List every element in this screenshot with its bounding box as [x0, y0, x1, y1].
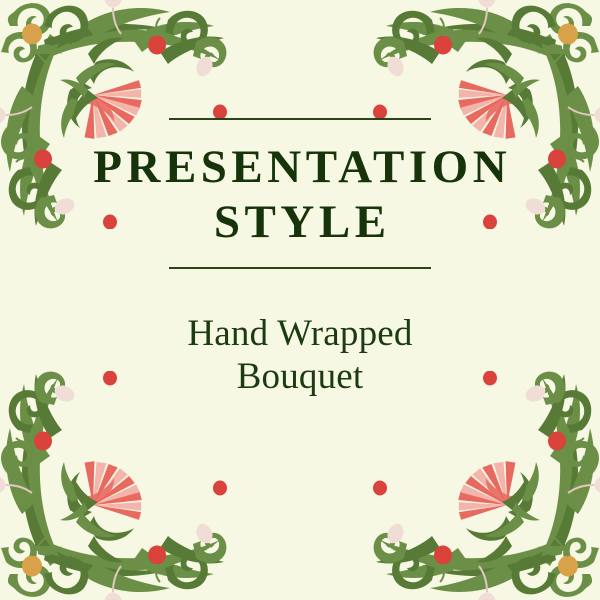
divider-bottom [169, 267, 431, 269]
card-content: PRESENTATION STYLE Hand Wrapped Bouquet [0, 118, 600, 399]
page-subtitle: Hand Wrapped Bouquet [135, 313, 465, 399]
page-title-line-1: PRESENTATION [89, 140, 511, 195]
page-title-line-2: STYLE [89, 195, 511, 250]
floral-corner-ornament-bottom-left [0, 371, 227, 600]
presentation-style-card: PRESENTATION STYLE Hand Wrapped Bouquet [0, 0, 600, 600]
page-title: PRESENTATION STYLE [89, 140, 511, 251]
floral-corner-ornament-bottom-right [373, 371, 600, 600]
divider-top [169, 118, 431, 120]
